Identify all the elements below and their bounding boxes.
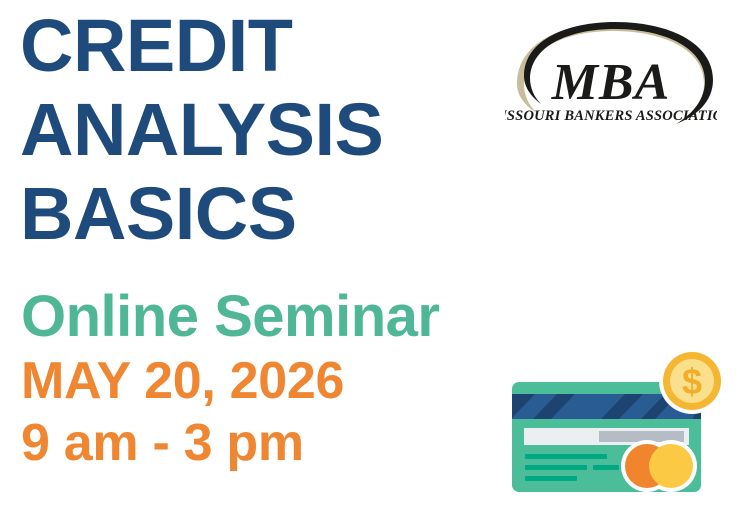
event-format: Online Seminar (21, 284, 501, 350)
logo-organization-name: MISSOURI BANKERS ASSOCIATION (505, 108, 717, 124)
title-line-1: CREDIT (20, 4, 490, 88)
coin-dollar-symbol: $ (682, 361, 702, 402)
event-time: 9 am - 3 pm (21, 412, 501, 474)
page-title: CREDIT ANALYSIS BASICS (20, 4, 490, 256)
logo-monogram: MBA (551, 54, 671, 111)
event-details: Online Seminar MAY 20, 2026 9 am - 3 pm (21, 284, 501, 474)
network-circle-yellow (649, 444, 693, 488)
event-date: MAY 20, 2026 (21, 350, 501, 412)
title-line-2: ANALYSIS (20, 88, 490, 172)
credit-card-illustration: $ (497, 352, 740, 502)
mba-logo: MBA MISSOURI BANKERS ASSOCIATION (505, 22, 717, 130)
flyer-canvas: CREDIT ANALYSIS BASICS Online Seminar MA… (0, 0, 750, 525)
payment-network-circles (621, 440, 697, 492)
title-line-3: BASICS (20, 172, 490, 256)
